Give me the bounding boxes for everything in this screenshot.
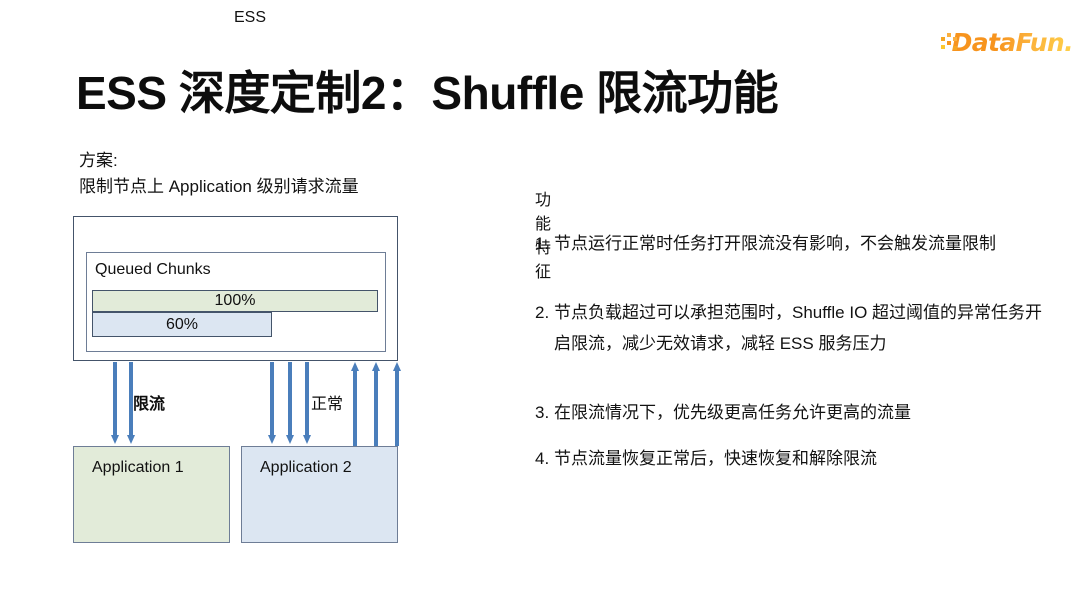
feature-item: 2. 节点负载超过可以承担范围时，Shuffle IO 超过阈值的异常任务开启限…: [535, 297, 1045, 359]
application-2-box: Application 2: [241, 446, 398, 543]
flow-arrow-normal-down-1: [268, 362, 277, 444]
flow-arrow-normal-up-2: [372, 362, 381, 446]
flow-arrow-normal-up-1: [351, 362, 360, 446]
chunk-bar-60-label: 60%: [166, 316, 198, 334]
datafun-dots-icon: [941, 33, 951, 53]
chunk-bar-60: 60%: [92, 312, 272, 337]
application-2-label: Application 2: [260, 459, 352, 477]
scheme-caption: 方案: 限制节点上 Application 级别请求流量: [79, 148, 359, 200]
scheme-caption-line1: 方案:: [79, 148, 359, 174]
feature-item-number: 3.: [535, 397, 554, 428]
flow-arrow-normal-up-3: [393, 362, 402, 446]
ess-box-label: ESS: [0, 9, 500, 27]
flow-arrow-throttled-1: [111, 362, 120, 444]
flow-label-normal: 正常: [311, 390, 343, 414]
scheme-caption-line2: 限制节点上 Application 级别请求流量: [79, 174, 359, 200]
feature-item: 1. 节点运行正常时任务打开限流没有影响，不会触发流量限制: [535, 228, 1045, 259]
application-1-box: Application 1: [73, 446, 230, 543]
feature-item: 3. 在限流情况下，优先级更高任务允许更高的流量: [535, 397, 1045, 428]
feature-item-text: 节点流量恢复正常后，快速恢复和解除限流: [554, 443, 1045, 474]
feature-item-text: 在限流情况下，优先级更高任务允许更高的流量: [554, 397, 1045, 428]
chunk-bar-100-label: 100%: [215, 292, 256, 310]
feature-item-number: 1.: [535, 228, 554, 259]
architecture-diagram: 方案: 限制节点上 Application 级别请求流量 ESS Queued …: [0, 0, 500, 608]
application-1-label: Application 1: [92, 459, 184, 477]
brand-logo-text: DataFun.: [952, 29, 1073, 57]
feature-item-text: 节点运行正常时任务打开限流没有影响，不会触发流量限制: [554, 228, 1045, 259]
flow-label-throttled: 限流: [133, 390, 165, 414]
queued-chunks-label: Queued Chunks: [95, 261, 211, 279]
chunk-bar-100: 100%: [92, 290, 378, 312]
feature-item-number: 2.: [535, 297, 554, 328]
feature-item-text: 节点负载超过可以承担范围时，Shuffle IO 超过阈值的异常任务开启限流，减…: [554, 297, 1045, 359]
flow-arrow-normal-down-2: [286, 362, 295, 444]
feature-item-number: 4.: [535, 443, 554, 474]
datafun-logo: DataFun.: [941, 29, 1073, 57]
feature-item: 4. 节点流量恢复正常后，快速恢复和解除限流: [535, 443, 1045, 474]
